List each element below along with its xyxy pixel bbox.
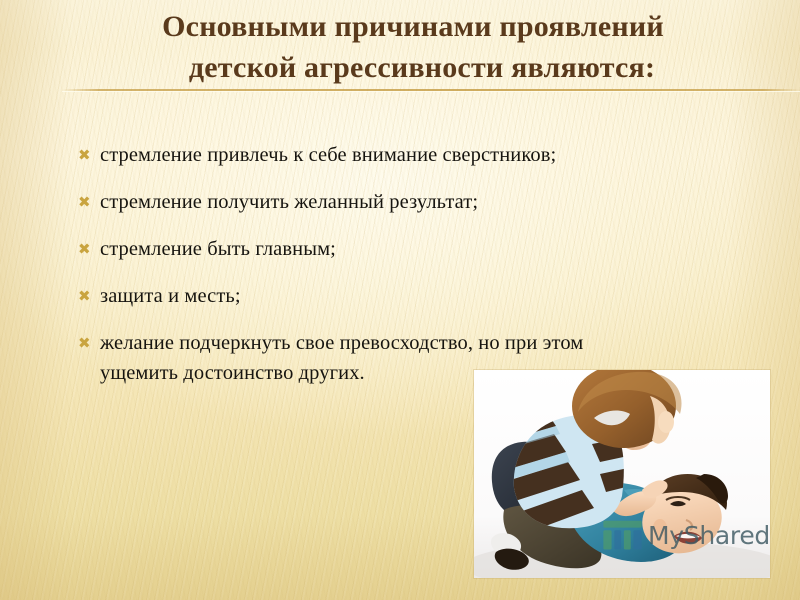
presentation-slide: Основными причинами проявлений детской а…	[0, 0, 800, 600]
slide-title: Основными причинами проявлений детской а…	[60, 6, 766, 88]
list-item-text: стремление получить желанный результат;	[100, 187, 738, 217]
photo-illustration	[474, 370, 770, 578]
list-item-text: стремление привлечь к себе внимание свер…	[100, 140, 738, 170]
list-item: ✖ защита и месть;	[78, 281, 738, 311]
cross-bullet-icon: ✖	[78, 281, 100, 311]
cross-bullet-icon: ✖	[78, 234, 100, 264]
slide-title-line-1: Основными причинами проявлений	[60, 6, 766, 47]
list-item: ✖ стремление получить желанный результат…	[78, 187, 738, 217]
list-item-text: стремление быть главным;	[100, 234, 738, 264]
list-item: ✖ стремление привлечь к себе внимание св…	[78, 140, 738, 170]
list-item: ✖ стремление быть главным;	[78, 234, 738, 264]
cross-bullet-icon: ✖	[78, 328, 100, 358]
bullet-list: ✖ стремление привлечь к себе внимание св…	[78, 140, 738, 388]
cross-bullet-icon: ✖	[78, 140, 100, 170]
slide-title-line-2: детской агрессивности являются:	[60, 47, 766, 88]
title-divider-highlight	[62, 91, 800, 92]
slide-photo: MyShared	[474, 370, 770, 578]
cross-bullet-icon: ✖	[78, 187, 100, 217]
list-item-text: защита и месть;	[100, 281, 738, 311]
